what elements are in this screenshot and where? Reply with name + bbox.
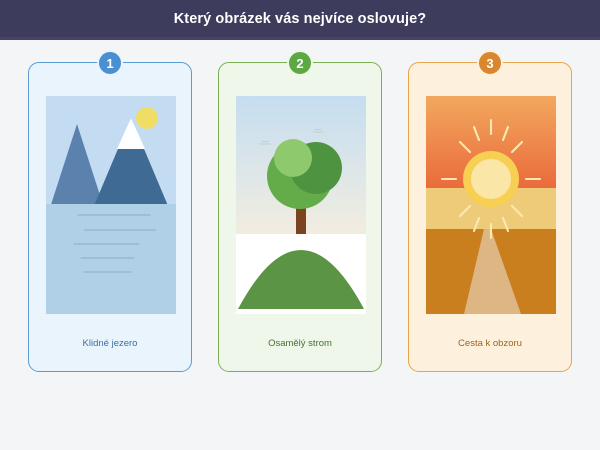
card-illustration-calm-lake: [46, 96, 176, 314]
card-label-3: Cesta k obzoru: [409, 338, 571, 349]
page-title: Který obrázek vás nejvíce oslovuje?: [174, 11, 427, 27]
card-badge-1: 1: [97, 50, 123, 76]
choice-prompt-screen: Který obrázek vás nejvíce oslovuje? 1: [0, 0, 600, 450]
card-illustration-path-to-horizon: [426, 96, 556, 314]
card-badge-2: 2: [287, 50, 313, 76]
choice-card-list: 1 Klidné: [0, 40, 600, 380]
choice-card-1[interactable]: 1 Klidné: [28, 62, 192, 372]
card-label-1: Klidné jezero: [29, 338, 191, 349]
card-illustration-lonely-tree: [236, 96, 366, 314]
choice-card-3[interactable]: 3: [408, 62, 572, 372]
choice-card-2[interactable]: 2: [218, 62, 382, 372]
header-bar: Který obrázek vás nejvíce oslovuje?: [0, 0, 600, 37]
card-badge-3: 3: [477, 50, 503, 76]
card-label-2: Osamělý strom: [219, 338, 381, 349]
